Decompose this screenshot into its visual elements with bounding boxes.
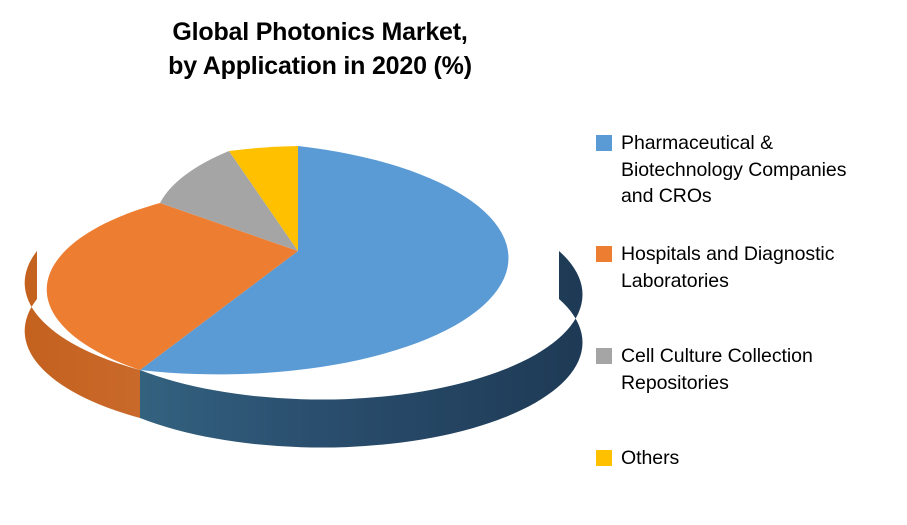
legend-item-others[interactable]: Others <box>596 445 679 472</box>
legend-swatch-icon-pharmaceutical <box>596 135 612 151</box>
legend-swatch-icon-cell-culture <box>596 348 612 364</box>
legend-label-hospitals: Hospitals and Diagnostic Laboratories <box>621 241 834 294</box>
legend-label-others: Others <box>621 445 679 472</box>
pie-svg <box>0 0 600 525</box>
legend-swatch-icon-others <box>596 450 612 466</box>
legend-label-pharmaceutical: Pharmaceutical & Biotechnology Companies… <box>621 130 846 210</box>
legend-item-pharmaceutical[interactable]: Pharmaceutical & Biotechnology Companies… <box>596 130 846 210</box>
pie-plot-area <box>0 0 600 525</box>
pie-chart-figure: Global Photonics Market, by Application … <box>0 0 907 525</box>
chart-legend: Pharmaceutical & Biotechnology Companies… <box>596 130 907 490</box>
legend-swatch-icon-hospitals <box>596 246 612 262</box>
pie-top-surface <box>47 146 509 374</box>
legend-item-cell-culture[interactable]: Cell Culture Collection Repositories <box>596 343 813 396</box>
legend-label-cell-culture: Cell Culture Collection Repositories <box>621 343 813 396</box>
legend-item-hospitals[interactable]: Hospitals and Diagnostic Laboratories <box>596 241 834 294</box>
